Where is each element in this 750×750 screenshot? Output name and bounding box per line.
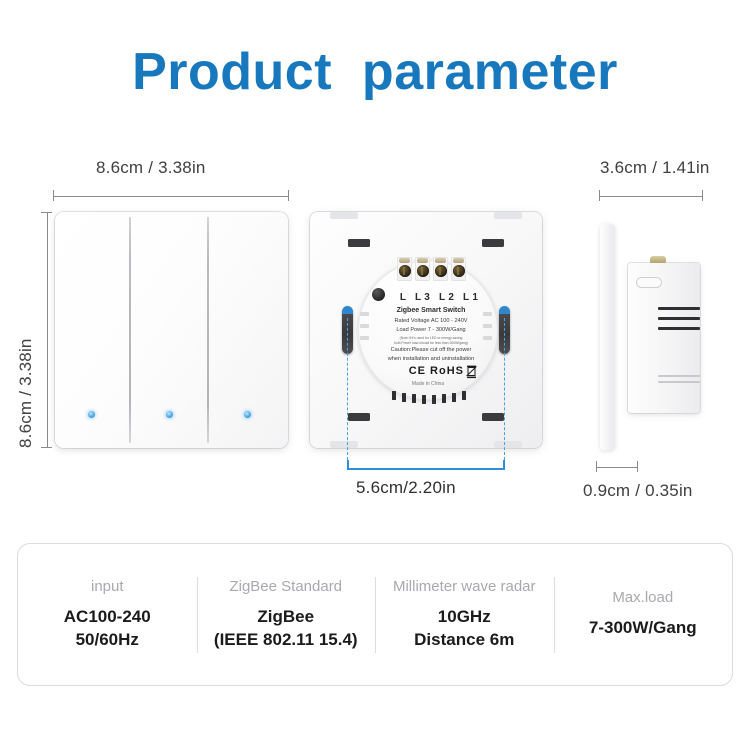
side-depth-rule [599,190,703,201]
led-indicator-3 [244,411,251,418]
wire-terminal-L2[interactable] [433,257,448,281]
spec-value: 10GHzDistance 6m [414,606,514,652]
side-vent [658,327,700,330]
vent-slot [392,391,396,400]
spec-column-max-load: Max.load 7-300W/Gang [554,571,733,659]
terminal-cap-L1 [453,258,464,263]
faceplate-width-label: 8.6cm / 3.38in [96,158,206,178]
clip-tab [360,324,369,328]
spec-value: 7-300W/Gang [589,617,697,640]
mount-notch-tr [494,212,522,219]
spec-label: Max.load [612,589,673,606]
spec-label: ZigBee Standard [229,578,342,595]
screw-slot-bl [348,413,370,421]
caution-line-1: Caution:Please cut off the power [366,347,496,354]
clip-tab [360,336,369,340]
spec-value: AC100-24050/60Hz [64,606,151,652]
module-width-dash-right [504,318,505,460]
product-parameter-page: Product parameter 8.6cm / 3.38in 8.6cm /… [0,0,750,750]
spec-column-radar: Millimeter wave radar 10GHzDistance 6m [375,571,554,659]
screw-slot-tl [348,239,370,247]
plate-thickness-label: 0.9cm / 0.35in [583,481,693,501]
round-electronics-module: L L3 L2 L1 Zigbee Smart Switch Rated Vol… [358,260,498,400]
terminal-screw-L3 [417,265,429,277]
load-power-text: Load Power 7 - 300W/Gang [368,327,494,334]
spec-column-input: input AC100-24050/60Hz [18,571,197,659]
mount-notch-br [494,441,522,448]
crossed-out-wheelie-bin-icon [466,364,477,379]
led-indicator-2 [166,411,173,418]
spec-column-zigbee-standard: ZigBee Standard ZigBee(IEEE 802.11 15.4) [197,571,376,659]
side-depth-label: 3.6cm / 1.41in [600,158,710,178]
vent-slot [452,393,456,402]
screw-slot-br [482,413,504,421]
vent-slot [462,391,466,400]
switch-faceplate-front[interactable] [55,212,288,448]
module-width-rule [347,468,505,470]
side-faceplate [600,224,615,450]
faceplate-groove-1 [129,217,131,443]
module-width-label: 5.6cm/2.20in [356,478,456,498]
terminal-cap-L [399,258,410,263]
certification-marks: CE RoHS [380,365,464,378]
side-seam [658,375,700,377]
faceplate-height-label: 8.6cm / 3.38in [16,338,36,448]
mount-notch-bl [330,441,358,448]
terminal-cap-L2 [435,258,446,263]
side-vent [658,317,700,320]
faceplate-width-rule [53,190,289,201]
page-title: Product parameter [0,42,750,102]
side-seam [658,381,700,383]
switch-back-body[interactable]: L L3 L2 L1 Zigbee Smart Switch Rated Vol… [310,212,542,448]
terminal-legend: L L3 L2 L1 [388,292,493,304]
wire-terminal-L3[interactable] [415,257,430,281]
wire-terminal-L1[interactable] [451,257,466,281]
spec-label: Millimeter wave radar [393,578,536,595]
wire-terminal-L[interactable] [397,257,412,281]
clip-tab [483,312,492,316]
screw-slot-tr [482,239,504,247]
vent-slot [412,394,416,403]
side-hook-icon [636,277,662,288]
spec-value: ZigBee(IEEE 802.11 15.4) [214,606,358,652]
mount-notch-tl [330,212,358,219]
rated-voltage-text: Rated Voltage AC 100 - 240V [368,318,494,325]
spec-label: input [91,578,124,595]
clip-tab [483,336,492,340]
clip-tab [360,312,369,316]
clip-tab [483,324,492,328]
spec-summary-card: input AC100-24050/60Hz ZigBee Standard Z… [17,543,733,686]
origin-text: Made in China [376,382,480,388]
plate-thickness-rule [596,461,638,472]
side-screw-terminal [650,256,666,263]
terminal-screw-L1 [453,265,465,277]
terminal-cap-L3 [417,258,428,263]
terminal-screw-L [399,265,411,277]
caution-line-2: when installation and uninstallation [366,356,496,363]
module-width-dash-left [347,318,348,460]
vent-slot [422,395,426,404]
note-line-1: (Note:If it's used for LED or energy sav… [366,336,496,340]
led-indicator-1 [88,411,95,418]
pairing-button[interactable] [372,288,385,301]
vent-slot [442,394,446,403]
terminal-screw-L2 [435,265,447,277]
side-body [628,263,700,413]
side-vent [658,307,700,310]
faceplate-groove-2 [207,217,209,443]
faceplate-height-rule [41,212,52,448]
vent-slot [402,393,406,402]
vent-slot [432,395,436,404]
note-line-2: bulb,Power load should be less than 300W… [366,341,496,345]
module-product-name: Zigbee Smart Switch [376,307,486,315]
